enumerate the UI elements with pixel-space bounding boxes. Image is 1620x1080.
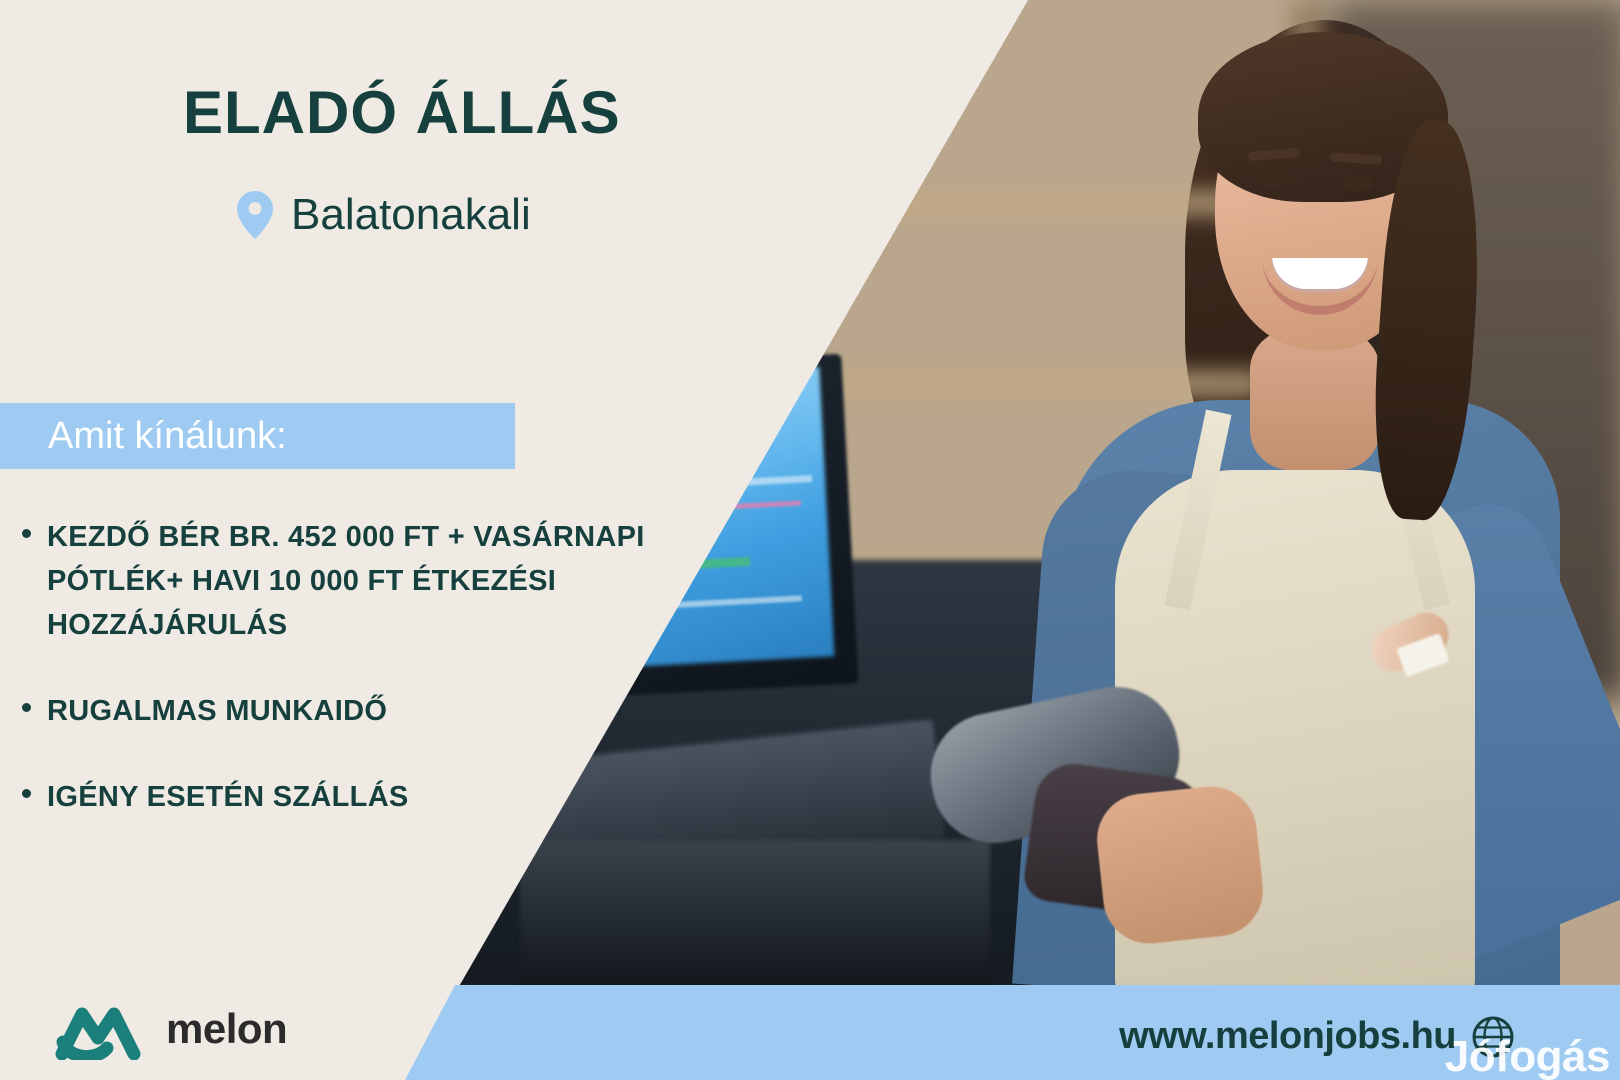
- offer-heading-label: Amit kínálunk:: [48, 415, 287, 458]
- eye: [1340, 176, 1374, 191]
- jofogas-watermark: Jófogás: [1445, 1032, 1610, 1080]
- eye: [1258, 172, 1292, 187]
- page-title: ELADÓ ÁLLÁS: [183, 78, 621, 147]
- brand-logo: melon: [52, 998, 287, 1060]
- location-name: Balatonakali: [291, 190, 531, 240]
- list-item: IGÉNY ESETÉN SZÁLLÁS: [14, 775, 674, 819]
- list-item: RUGALMAS MUNKAIDŐ: [14, 689, 674, 733]
- job-ad-poster: ELADÓ ÁLLÁS Balatonakali Amit kínálunk: …: [0, 0, 1620, 1080]
- benefits-list: KEZDŐ BÉR BR. 452 000 FT + VASÁRNAPI PÓT…: [14, 515, 674, 861]
- hand-holding-scanner: [1093, 782, 1268, 948]
- shelf-line: [800, 370, 1260, 398]
- location-row: Balatonakali: [237, 190, 531, 240]
- list-item: KEZDŐ BÉR BR. 452 000 FT + VASÁRNAPI PÓT…: [14, 515, 674, 647]
- location-pin-icon: [237, 191, 273, 239]
- neck: [1250, 330, 1380, 470]
- melon-logo-icon: [52, 998, 144, 1060]
- website-url[interactable]: www.melonjobs.hu: [1119, 1015, 1456, 1058]
- brand-name: melon: [166, 1005, 287, 1053]
- offer-heading-box: Amit kínálunk:: [0, 403, 515, 469]
- cash-drawer: [520, 840, 990, 985]
